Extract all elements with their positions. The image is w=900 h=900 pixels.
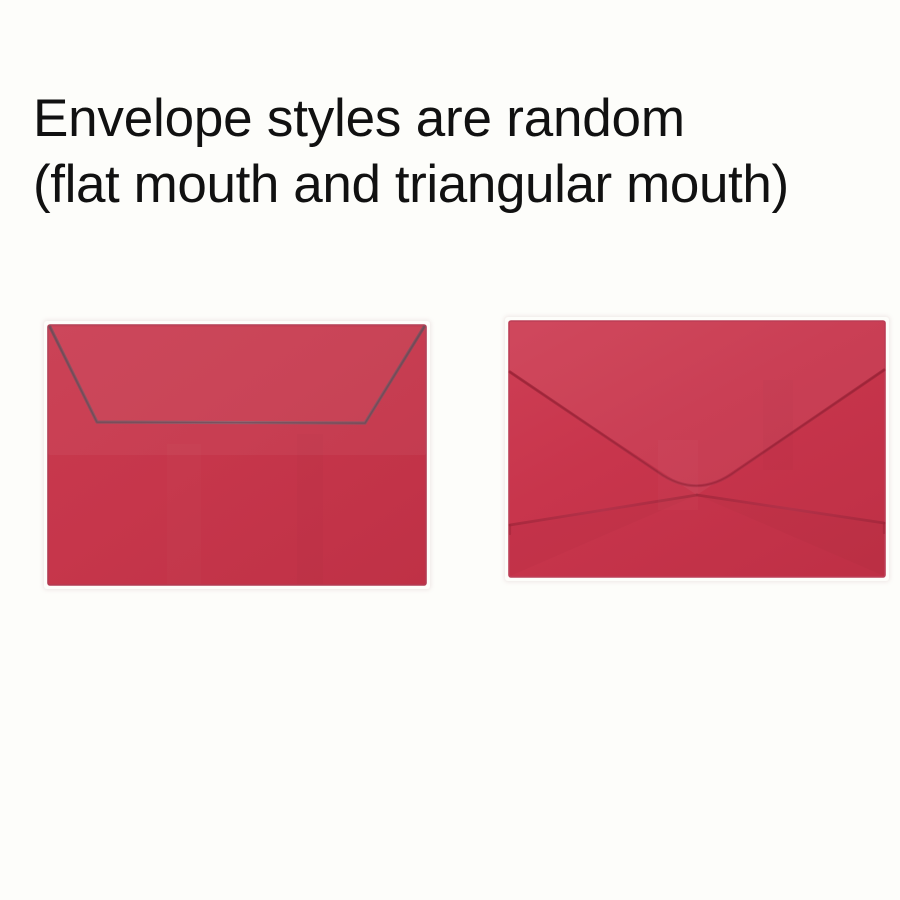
envelope-triangular-texture-1 — [658, 440, 698, 510]
envelope-triangular-texture-2 — [763, 380, 793, 470]
envelope-flat-mouth — [47, 324, 427, 586]
screenshot-canvas: Envelope styles are random (flat mouth a… — [0, 0, 900, 900]
envelope-triangular-mouth — [508, 320, 886, 578]
envelope-flat-flap-shade — [50, 327, 424, 423]
envelope-triangular-illustration — [508, 320, 886, 578]
envelope-flat-texture-2 — [297, 434, 323, 584]
caption-line-2: (flat mouth and triangular mouth) — [33, 152, 893, 218]
caption-line-1: Envelope styles are random — [33, 86, 893, 152]
envelope-flat-texture-1 — [167, 444, 201, 584]
envelope-flat-illustration — [47, 324, 427, 586]
caption-block: Envelope styles are random (flat mouth a… — [33, 86, 893, 218]
